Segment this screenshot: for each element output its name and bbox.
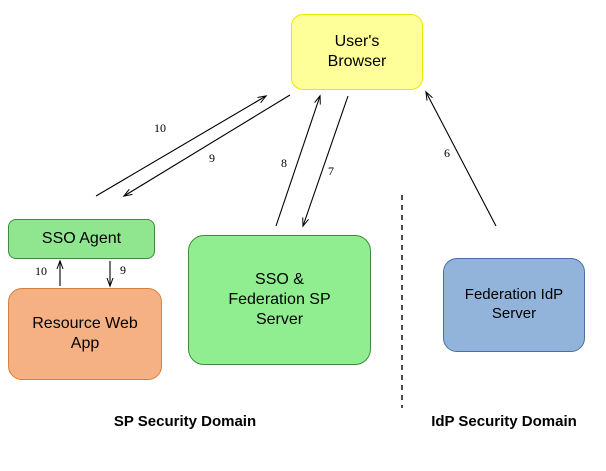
node-sso-federation-sp-server[interactable]: SSO & Federation SP Server	[188, 235, 371, 365]
edge-label-6: 6	[444, 146, 450, 161]
diagram-canvas: User's Browser SSO Agent Resource Web Ap…	[0, 0, 606, 471]
edge-label-10-lower: 10	[35, 264, 47, 279]
idp-security-domain-label: IdP Security Domain	[402, 413, 606, 430]
edge-label-9-upper: 9	[209, 151, 215, 166]
node-sso-agent[interactable]: SSO Agent	[8, 219, 155, 259]
edge-label-8: 8	[281, 156, 287, 171]
sp-security-domain-label: SP Security Domain	[0, 413, 370, 430]
connector-6	[426, 92, 496, 226]
edge-label-10-upper: 10	[154, 121, 166, 136]
connector-10-upper	[96, 96, 266, 196]
connector-9-upper	[124, 95, 290, 196]
node-resource-web-app[interactable]: Resource Web App	[8, 288, 162, 380]
node-federation-idp-server[interactable]: Federation IdP Server	[443, 258, 585, 352]
node-users-browser[interactable]: User's Browser	[291, 14, 423, 90]
edge-label-7: 7	[328, 164, 334, 179]
connector-7	[303, 96, 348, 226]
edge-label-9-lower: 9	[120, 263, 126, 278]
